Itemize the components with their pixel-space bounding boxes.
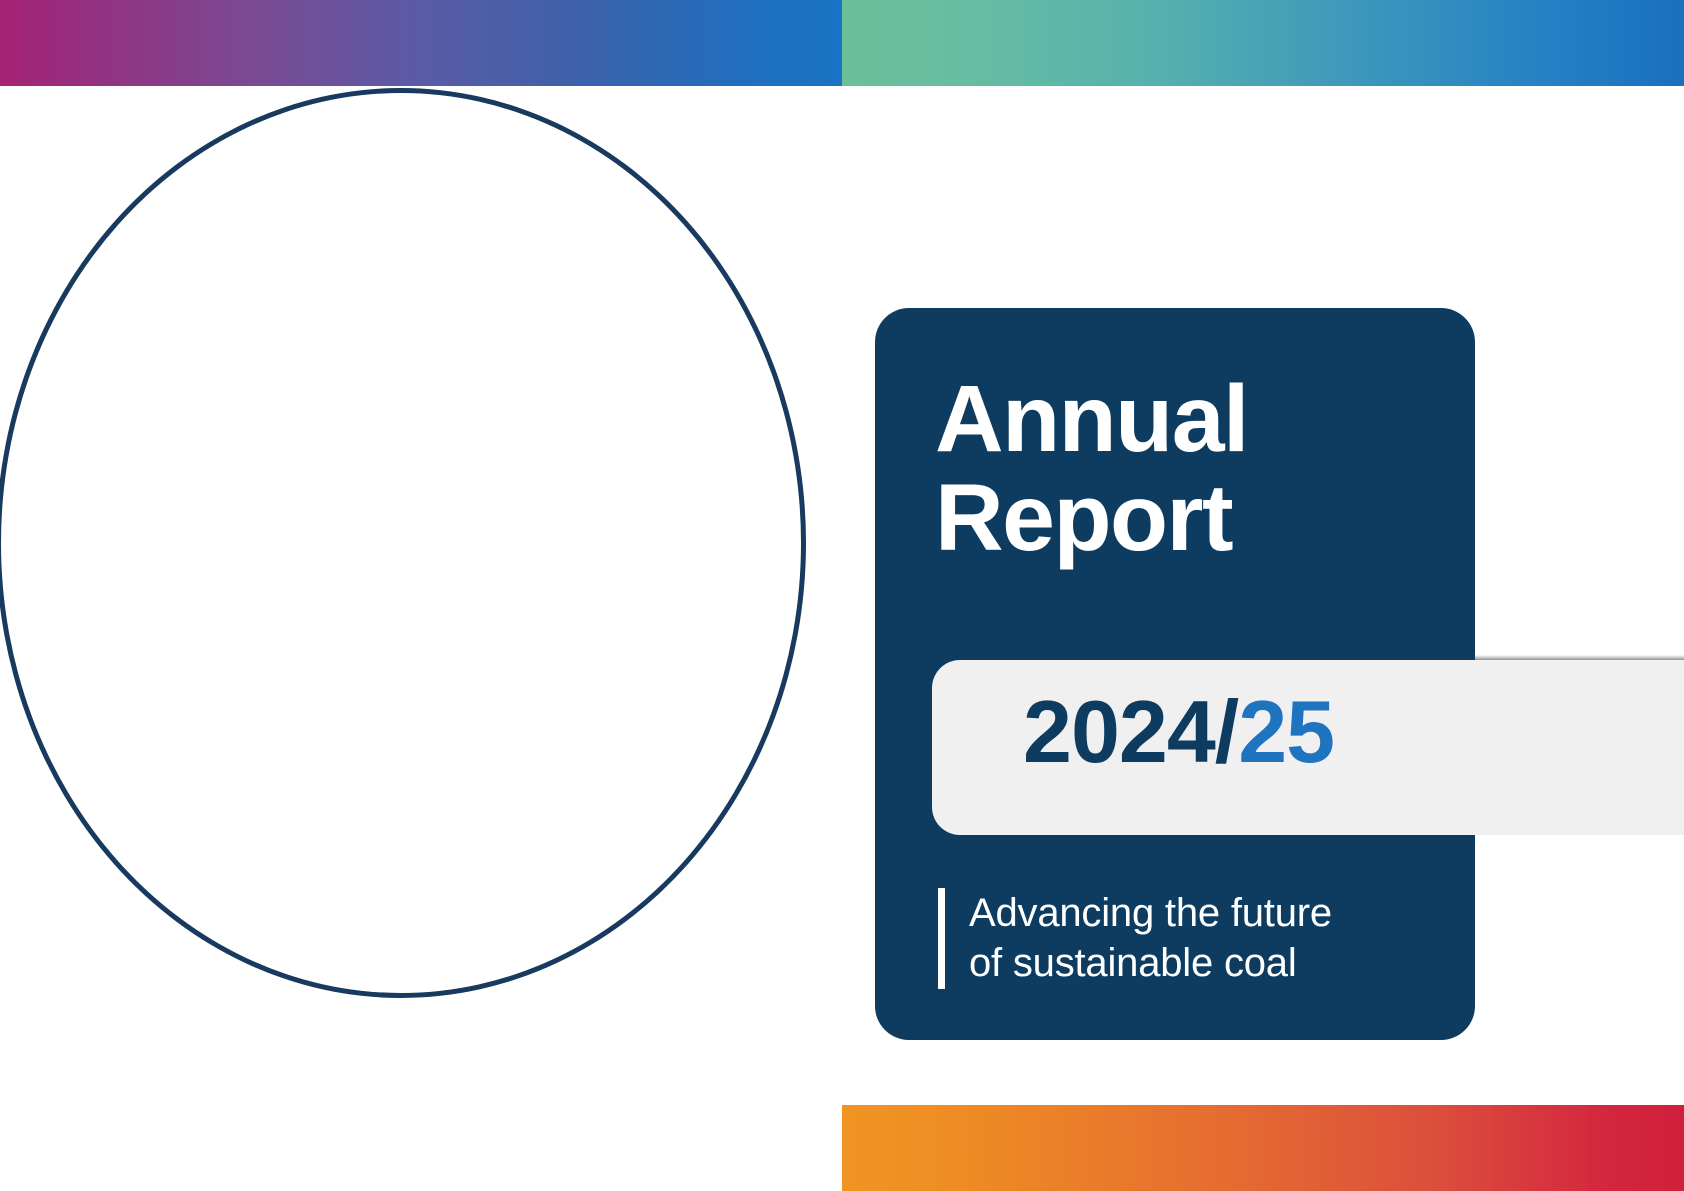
- year-first: 2024: [1023, 682, 1215, 781]
- title-line-2: Report: [935, 469, 1455, 568]
- top-gradient-bar-right: [842, 0, 1684, 86]
- report-cover-page: Annual Report 2024/25 Advancing the futu…: [0, 0, 1684, 1191]
- top-gradient-bar-left: [0, 0, 842, 86]
- tagline-line-1: Advancing the future: [969, 888, 1332, 938]
- tagline: Advancing the future of sustainable coal: [938, 888, 1332, 989]
- bottom-gradient-bar-right: [842, 1105, 1684, 1191]
- report-year: 2024/25: [1023, 688, 1334, 776]
- year-separator: /: [1215, 682, 1238, 781]
- page-title: Annual Report: [935, 370, 1455, 568]
- title-line-1: Annual: [935, 370, 1455, 469]
- bottom-gradient-bar-left: [0, 1105, 842, 1191]
- year-second: 25: [1238, 682, 1334, 781]
- photo-ring-border: [0, 88, 806, 998]
- cover-photo-frame: [0, 88, 806, 998]
- tagline-line-2: of sustainable coal: [969, 938, 1332, 988]
